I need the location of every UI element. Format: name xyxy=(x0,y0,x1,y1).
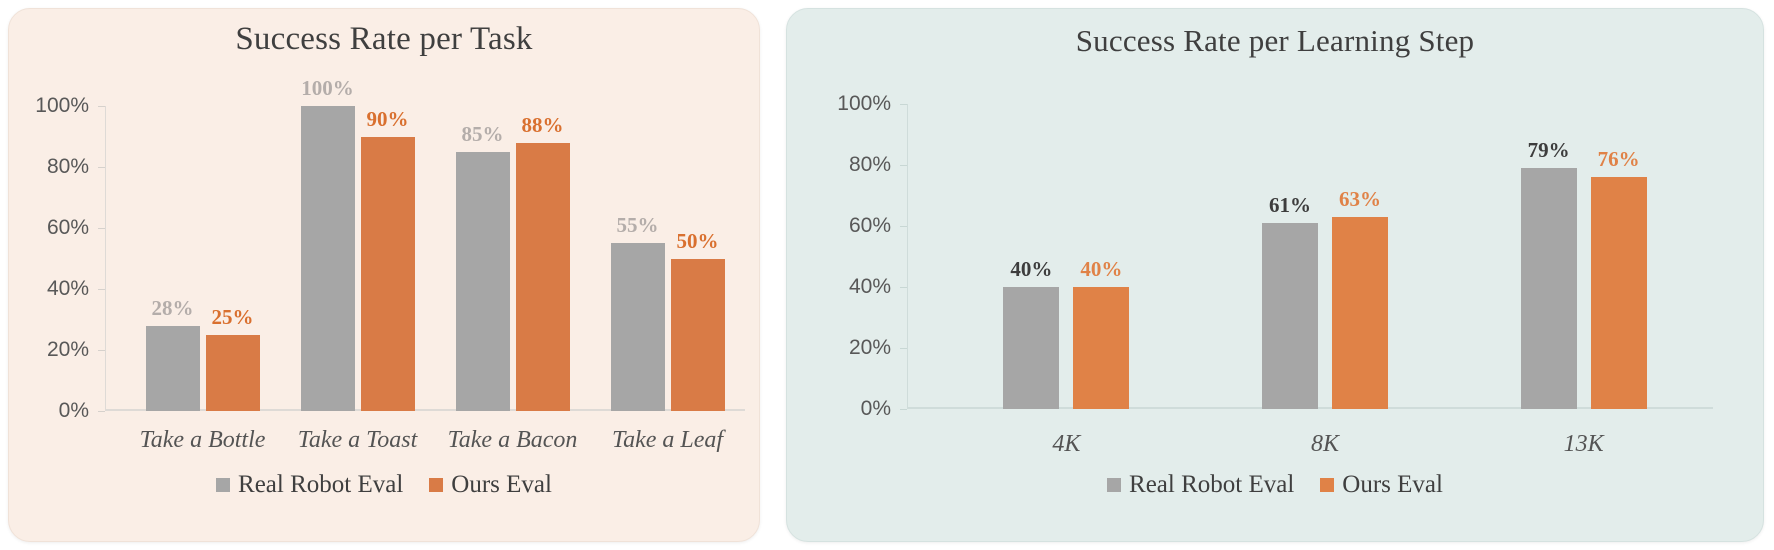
chart-title-left: Success Rate per Task xyxy=(9,21,759,58)
chart-panel-success-rate-per-task: Success Rate per Task 100%80%60%40%20%0%… xyxy=(8,8,760,542)
bar-value-label: 76% xyxy=(1598,147,1640,172)
bar-ours-eval xyxy=(516,143,570,411)
bar-value-label: 90% xyxy=(367,107,409,132)
legend-label-ours-eval-right: Ours Eval xyxy=(1342,471,1443,499)
bar-value-label: 28% xyxy=(152,296,194,321)
y-axis-tick-label: 60% xyxy=(47,216,89,240)
legend-right: Real Robot Eval Ours Eval xyxy=(787,471,1763,499)
bar-real-robot-eval xyxy=(611,243,665,411)
y-axis-line-right xyxy=(907,104,908,409)
bar-real-robot-eval xyxy=(301,106,355,411)
y-axis-tick-label: 100% xyxy=(837,92,891,116)
chart-title-right: Success Rate per Learning Step xyxy=(787,23,1763,59)
y-axis-tick-label: 0% xyxy=(861,397,891,421)
x-axis-category-label: Take a Toast xyxy=(298,427,418,454)
y-axis-tick xyxy=(98,411,105,412)
y-axis-tick xyxy=(900,104,907,105)
legend-item-real-robot-eval-right: Real Robot Eval xyxy=(1107,471,1294,499)
legend-item-ours-eval-right: Ours Eval xyxy=(1320,471,1443,499)
y-axis-tick-label: 80% xyxy=(47,155,89,179)
legend-swatch-icon-gray-right xyxy=(1107,478,1121,492)
bar-ours-eval xyxy=(671,259,725,412)
y-axis-tick-label: 20% xyxy=(47,338,89,362)
bar-value-label: 88% xyxy=(522,113,564,138)
y-axis-tick xyxy=(900,348,907,349)
bar-ours-eval xyxy=(1073,287,1129,409)
y-axis-tick xyxy=(98,228,105,229)
bar-value-label: 61% xyxy=(1269,193,1311,218)
y-axis-tick-label: 40% xyxy=(849,275,891,299)
legend-swatch-icon-gray-left xyxy=(216,478,230,492)
chart-panel-success-rate-per-learning-step: Success Rate per Learning Step 100%80%60… xyxy=(786,8,1764,542)
bar-value-label: 63% xyxy=(1339,187,1381,212)
legend-label-real-robot-eval-left: Real Robot Eval xyxy=(238,471,403,499)
y-axis-tick xyxy=(900,165,907,166)
x-axis-category-label: 13K xyxy=(1564,431,1604,458)
figure-root: Success Rate per Task 100%80%60%40%20%0%… xyxy=(0,0,1774,550)
y-axis-tick xyxy=(98,289,105,290)
y-axis-tick xyxy=(98,350,105,351)
x-axis-category-label: 4K xyxy=(1052,431,1080,458)
bar-value-label: 55% xyxy=(617,213,659,238)
y-axis-tick xyxy=(900,226,907,227)
bar-value-label: 100% xyxy=(301,76,354,101)
bar-real-robot-eval xyxy=(1003,287,1059,409)
x-axis-category-label: Take a Bottle xyxy=(140,427,266,454)
legend-item-real-robot-eval-left: Real Robot Eval xyxy=(216,471,403,499)
bar-value-label: 40% xyxy=(1010,257,1052,282)
y-axis-tick-label: 80% xyxy=(849,153,891,177)
x-axis-category-label: 8K xyxy=(1311,431,1339,458)
bar-ours-eval xyxy=(206,335,260,411)
bar-value-label: 40% xyxy=(1080,257,1122,282)
y-axis-line-left xyxy=(105,106,106,411)
y-axis-tick-label: 60% xyxy=(849,214,891,238)
y-axis-tick xyxy=(98,167,105,168)
bar-ours-eval xyxy=(361,137,415,412)
bar-value-label: 50% xyxy=(677,229,719,254)
bar-real-robot-eval xyxy=(146,326,200,411)
y-axis-tick xyxy=(900,409,907,410)
y-axis-tick xyxy=(98,106,105,107)
bar-real-robot-eval xyxy=(456,152,510,411)
y-axis-tick-label: 0% xyxy=(59,399,89,423)
y-axis-tick-label: 100% xyxy=(35,94,89,118)
y-axis-tick-label: 40% xyxy=(47,277,89,301)
legend-label-real-robot-eval-right: Real Robot Eval xyxy=(1129,471,1294,499)
legend-swatch-icon-orange-left xyxy=(429,478,443,492)
x-axis-category-label: Take a Bacon xyxy=(448,427,578,454)
bar-ours-eval xyxy=(1332,217,1388,409)
bar-value-label: 85% xyxy=(462,122,504,147)
bar-value-label: 25% xyxy=(212,305,254,330)
legend-left: Real Robot Eval Ours Eval xyxy=(9,471,759,499)
legend-item-ours-eval-left: Ours Eval xyxy=(429,471,552,499)
legend-swatch-icon-orange-right xyxy=(1320,478,1334,492)
bar-ours-eval xyxy=(1591,177,1647,409)
legend-label-ours-eval-left: Ours Eval xyxy=(451,471,552,499)
plot-area-right: 100%80%60%40%20%0%40%40%4K61%63%8K79%76%… xyxy=(907,104,1713,409)
bar-real-robot-eval xyxy=(1262,223,1318,409)
bar-value-label: 79% xyxy=(1528,138,1570,163)
y-axis-tick-label: 20% xyxy=(849,336,891,360)
plot-area-left: 100%80%60%40%20%0%28%25%Take a Bottle100… xyxy=(105,106,745,411)
bar-real-robot-eval xyxy=(1521,168,1577,409)
x-axis-category-label: Take a Leaf xyxy=(612,427,723,454)
y-axis-tick xyxy=(900,287,907,288)
